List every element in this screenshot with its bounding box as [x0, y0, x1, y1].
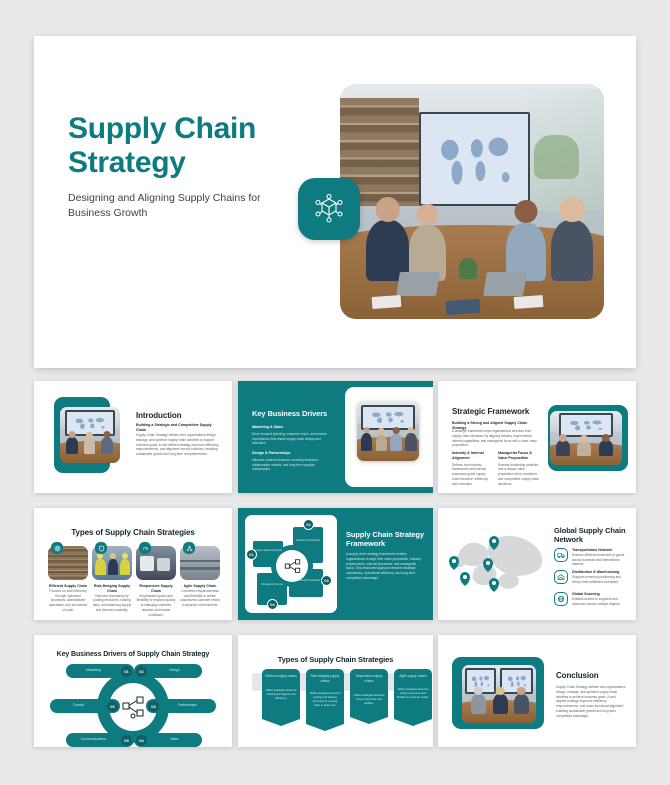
strategy-card[interactable]: Risk-Hedging Supply Chain Reduces uncert…	[92, 546, 132, 613]
driver-chip[interactable]: Sales 04	[134, 733, 202, 747]
slide-key-business-drivers[interactable]: Key Business Drivers Marketing & Sales D…	[238, 381, 433, 493]
gear-cog-icon	[51, 542, 63, 554]
quadrant-number: 02	[303, 519, 314, 530]
driver-chip[interactable]: Partnerships 03	[146, 699, 216, 713]
arrow-item[interactable]: Agile supply chains Utilize strategies a…	[394, 669, 432, 719]
truck-route-icon	[554, 548, 568, 562]
sf-subitem: Managerial Focus & Value Proposition Ens…	[498, 451, 540, 487]
sf-body: A strategic framework helps organization…	[452, 429, 540, 448]
world-map	[448, 522, 546, 604]
arrow-item[interactable]: Risk-hedging supply chains Utilize strat…	[306, 669, 344, 724]
network-item[interactable]: Transportation Network Ensures efficient…	[554, 548, 630, 567]
title-subtitle: Designing and Aligning Supply Chains for…	[68, 191, 298, 221]
warehouse-icon	[554, 570, 568, 584]
slide-framework-diagram[interactable]: Unique Value Proposal Industry Framework…	[238, 508, 433, 620]
intro-body: Supply Chain Strategy defines how organi…	[136, 433, 220, 457]
framework-white-panel: Unique Value Proposal Industry Framework…	[245, 515, 337, 613]
driver-chip[interactable]: Growth 06	[50, 699, 120, 713]
slide-types-cards[interactable]: Types of Supply Chain Strategies Efficie…	[34, 508, 232, 620]
card-body: Combines responsiveness and flexibility …	[180, 589, 220, 608]
network-item[interactable]: Distribution & Warehousing Supports inve…	[554, 570, 630, 584]
slide-drivers-wheel[interactable]: Key Business Drivers of Supply Chain Str…	[34, 635, 232, 747]
quadrant-label: Industry Framework	[293, 539, 323, 543]
map-pins	[448, 522, 546, 604]
conclusion-photo	[462, 665, 536, 723]
arrow-item[interactable]: Responsive supply chains Utilize strateg…	[350, 669, 388, 717]
framework-center-circle	[276, 550, 308, 582]
slide-title: Conclusion	[556, 671, 599, 680]
quadrant-number: 04	[267, 599, 278, 610]
intro-heading: Building a Strategic and Competitive Sup…	[136, 423, 220, 433]
quadrant-number: 03	[321, 575, 332, 586]
title-slide[interactable]: Supply Chain Strategy Designing and Alig…	[34, 36, 636, 368]
intro-photo	[60, 407, 120, 463]
sf-photo	[550, 411, 622, 465]
card-body: Focuses on cost efficiency through optim…	[48, 589, 88, 613]
quadrant-label: Unique Value Proposal	[253, 549, 283, 553]
quadrant-label: Managerial Focus	[257, 583, 287, 587]
card-body: Emphasizes speed and flexibility to resp…	[136, 594, 176, 618]
slide-title: Types of Supply Chain Strategies	[238, 655, 433, 664]
slide-title: Supply Chain Strategy Framework	[346, 530, 424, 549]
conclusion-body: Supply Chain Strategy defines how organi…	[556, 685, 626, 719]
slide-conclusion[interactable]: Conclusion Supply Chain Strategy defines…	[438, 635, 636, 747]
title-line-2: Strategy	[68, 146, 328, 180]
slide-title: Types of Supply Chain Strategies	[34, 528, 232, 537]
slide-title: Key Business Drivers of Supply Chain Str…	[34, 651, 232, 658]
globe-icon	[554, 592, 568, 606]
card-heading: Risk-Hedging Supply Chain	[92, 584, 132, 594]
driver-item: Marketing & Sales Drive demand planning,…	[252, 425, 328, 446]
slide-title: Strategic Framework	[452, 407, 529, 416]
strategy-card[interactable]: Efficient Supply Chain Focuses on cost e…	[48, 546, 88, 613]
quadrant-number: 01	[246, 549, 257, 560]
card-body: Reduces uncertainty by pooling resources…	[92, 594, 132, 613]
supply-network-cube-icon	[298, 178, 360, 240]
quadrant-label: Internal Processes	[295, 579, 323, 583]
driver-chip[interactable]: Marketing 01	[66, 664, 134, 678]
slide-types-arrows[interactable]: Types of Supply Chain Strategies Efficie…	[238, 635, 433, 747]
title-line-1: Supply Chain	[68, 112, 328, 146]
driver-chip[interactable]: Communications 05	[66, 733, 134, 747]
presentation-preview: Supply Chain Strategy Designing and Alig…	[0, 0, 670, 785]
strategy-card[interactable]: Responsive Supply Chain Emphasizes speed…	[136, 546, 176, 618]
card-heading: Responsive Supply Chain	[136, 584, 176, 594]
slide-title: Introduction	[136, 411, 181, 420]
driver-item: Design & Partnerships Influence product …	[252, 451, 328, 472]
network-icon	[183, 542, 195, 554]
shield-icon	[95, 542, 107, 554]
slide-introduction[interactable]: Introduction Building a Strategic and Co…	[34, 381, 232, 493]
hero-photo	[340, 84, 604, 319]
speed-icon	[139, 542, 151, 554]
slide-title: Key Business Drivers	[252, 409, 327, 418]
network-item[interactable]: Global Sourcing Enables access to suppli…	[554, 592, 630, 606]
sf-subitem: Industry & Internal Alignment Defines ho…	[452, 451, 492, 487]
arrow-item[interactable]: Efficient supply chains Utilize strategi…	[262, 669, 300, 719]
kbd-photo	[357, 401, 419, 461]
slide-strategic-framework[interactable]: Strategic Framework Building a Strong an…	[438, 381, 636, 493]
strategy-card[interactable]: Agile Supply Chain Combines responsivene…	[180, 546, 220, 608]
page-title: Supply Chain Strategy	[68, 112, 328, 179]
driver-chip[interactable]: Design 02	[134, 664, 202, 678]
framework-body: A supply chain strategy framework enable…	[346, 552, 424, 581]
slide-global-network[interactable]: Global Supply Chain Network Transportati…	[438, 508, 636, 620]
slide-title: Global Supply Chain Network	[554, 526, 626, 545]
